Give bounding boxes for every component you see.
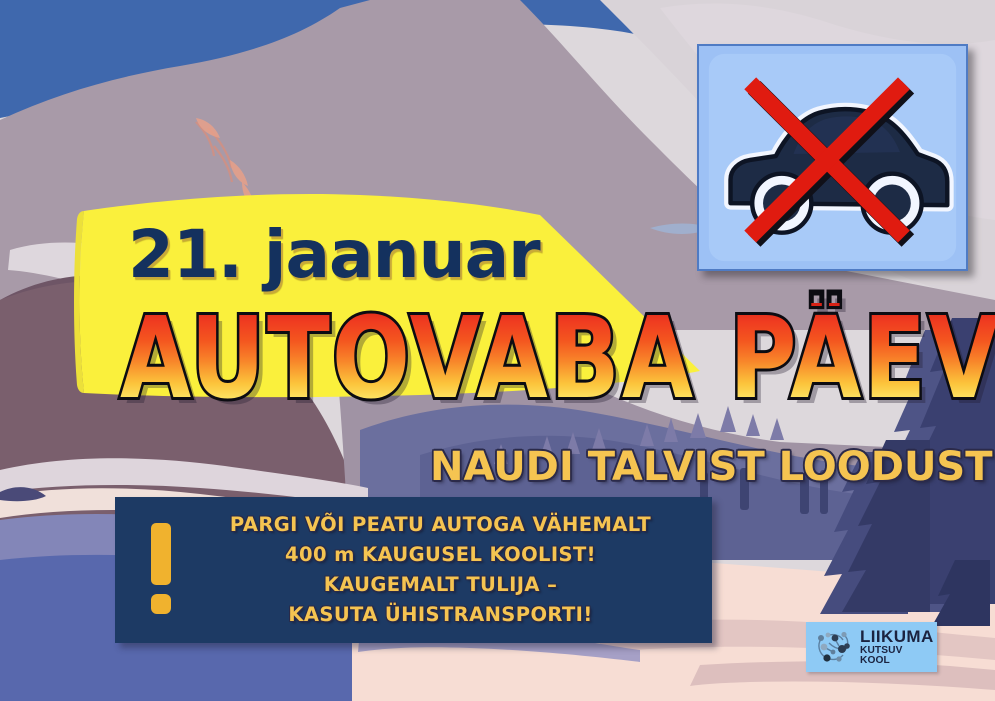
logo-name-primary: LIIKUMA [860,628,934,645]
logo-text: LIIKUMA KUTSUV KOOL [860,628,934,666]
exclamation-bar [151,523,171,585]
main-title-fill: AUTOVABA PÄEV [120,303,995,415]
info-line: PARGI VÕI PEATU AUTOGA VÄHEMALT [207,510,674,540]
info-box: PARGI VÕI PEATU AUTOGA VÄHEMALT 400 m KA… [115,497,712,643]
info-line: KAUGEMALT TULIJA – [207,570,674,600]
subtitle: NAUDI TALVIST LOODUST! [430,447,995,487]
logo-name-secondary: KUTSUV KOOL [860,646,934,666]
info-line: KASUTA ÜHISTRANSPORTI! [207,600,674,630]
logo-liikuma-kutsuv-kool: LIIKUMA KUTSUV KOOL [806,622,937,672]
main-title: AUTOVABA PÄEV AUTOVABA PÄEV [120,303,995,415]
event-date: 21. jaanuar [128,222,540,288]
exclamation-mark-icon [115,523,207,618]
exclamation-dot [151,594,171,614]
poster-canvas: 21. jaanuar AUTOVABA PÄEV AUTOVABA PÄEV … [0,0,995,701]
info-line: 400 m KAUGUSEL KOOLIST! [207,540,674,570]
no-car-sign [697,44,968,271]
info-text-block: PARGI VÕI PEATU AUTOGA VÄHEMALT 400 m KA… [207,510,712,631]
molecule-network-icon [813,627,857,667]
